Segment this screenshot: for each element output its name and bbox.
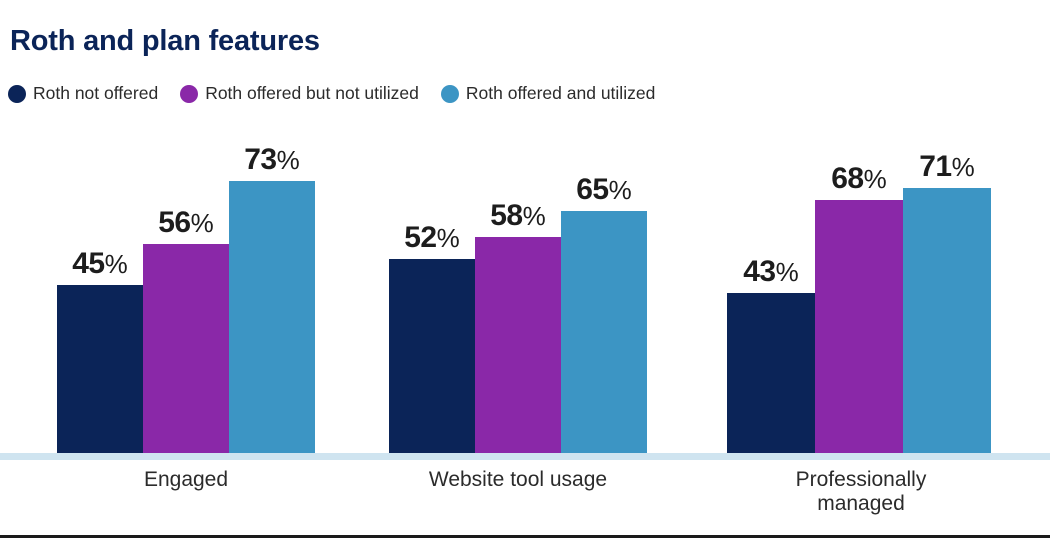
legend-swatch-icon bbox=[180, 85, 198, 103]
legend-swatch-icon bbox=[441, 85, 459, 103]
bar-value-label: 45% bbox=[72, 249, 128, 279]
bar-website-tool-usage-roth-offered-and-utilized[interactable]: 65% bbox=[561, 125, 647, 453]
x-axis-label-website-tool-usage: Website tool usage bbox=[388, 468, 648, 492]
bar-professionally-managed-roth-offered-not-utilized[interactable]: 68% bbox=[815, 125, 903, 453]
x-axis-label-professionally-managed: Professionally managed bbox=[745, 468, 977, 516]
bar-website-tool-usage-roth-offered-not-utilized[interactable]: 58% bbox=[475, 125, 561, 453]
bar-value-label: 68% bbox=[831, 164, 887, 194]
legend-item-roth-offered-not-utilized[interactable]: Roth offered but not utilized bbox=[180, 85, 419, 103]
legend-item-label: Roth not offered bbox=[33, 85, 158, 103]
legend-item-label: Roth offered but not utilized bbox=[205, 85, 419, 103]
bar-website-tool-usage-roth-not-offered[interactable]: 52% bbox=[389, 125, 475, 453]
bar-value-label: 52% bbox=[404, 223, 460, 253]
bar-rect bbox=[475, 237, 561, 453]
bar-value-label: 73% bbox=[244, 145, 300, 175]
chart-card: Roth and plan features Roth not offered … bbox=[0, 0, 1050, 538]
bar-engaged-roth-offered-not-utilized[interactable]: 56% bbox=[143, 125, 229, 453]
bar-group-website-tool-usage: 52% 58% 65% bbox=[389, 125, 647, 453]
bar-rect bbox=[815, 200, 903, 453]
bar-professionally-managed-roth-not-offered[interactable]: 43% bbox=[727, 125, 815, 453]
bar-professionally-managed-roth-offered-and-utilized[interactable]: 71% bbox=[903, 125, 991, 453]
x-axis-label-line1: Professionally bbox=[745, 468, 977, 492]
bar-engaged-roth-not-offered[interactable]: 45% bbox=[57, 125, 143, 453]
bar-value-label: 58% bbox=[490, 201, 546, 231]
chart-title: Roth and plan features bbox=[10, 25, 320, 58]
x-axis-label-line2: managed bbox=[745, 492, 977, 516]
bar-rect bbox=[727, 293, 815, 453]
bar-rect bbox=[57, 285, 143, 453]
bar-value-label: 56% bbox=[158, 208, 214, 238]
legend-item-roth-offered-and-utilized[interactable]: Roth offered and utilized bbox=[441, 85, 655, 103]
bar-group-engaged: 45% 56% 73% bbox=[57, 125, 315, 453]
bar-rect bbox=[389, 259, 475, 453]
bar-rect bbox=[143, 244, 229, 453]
bar-engaged-roth-offered-and-utilized[interactable]: 73% bbox=[229, 125, 315, 453]
plot-area: 45% 56% 73% 52% bbox=[0, 120, 1050, 460]
bar-rect bbox=[903, 188, 991, 453]
legend-item-label: Roth offered and utilized bbox=[466, 85, 655, 103]
bar-value-label: 43% bbox=[743, 257, 799, 287]
bar-rect bbox=[229, 181, 315, 453]
bar-rect bbox=[561, 211, 647, 453]
bar-value-label: 65% bbox=[576, 175, 632, 205]
chart-legend: Roth not offered Roth offered but not ut… bbox=[8, 85, 655, 103]
axis-baseline bbox=[0, 453, 1050, 460]
x-axis-label-engaged: Engaged bbox=[56, 468, 316, 492]
x-axis-labels: Engaged Website tool usage Professionall… bbox=[0, 468, 1050, 532]
legend-item-roth-not-offered[interactable]: Roth not offered bbox=[8, 85, 158, 103]
bar-group-professionally-managed: 43% 68% 71% bbox=[727, 125, 993, 453]
x-axis-label-line1: Website tool usage bbox=[388, 468, 648, 492]
legend-swatch-icon bbox=[8, 85, 26, 103]
bar-value-label: 71% bbox=[919, 152, 975, 182]
x-axis-label-line1: Engaged bbox=[56, 468, 316, 492]
